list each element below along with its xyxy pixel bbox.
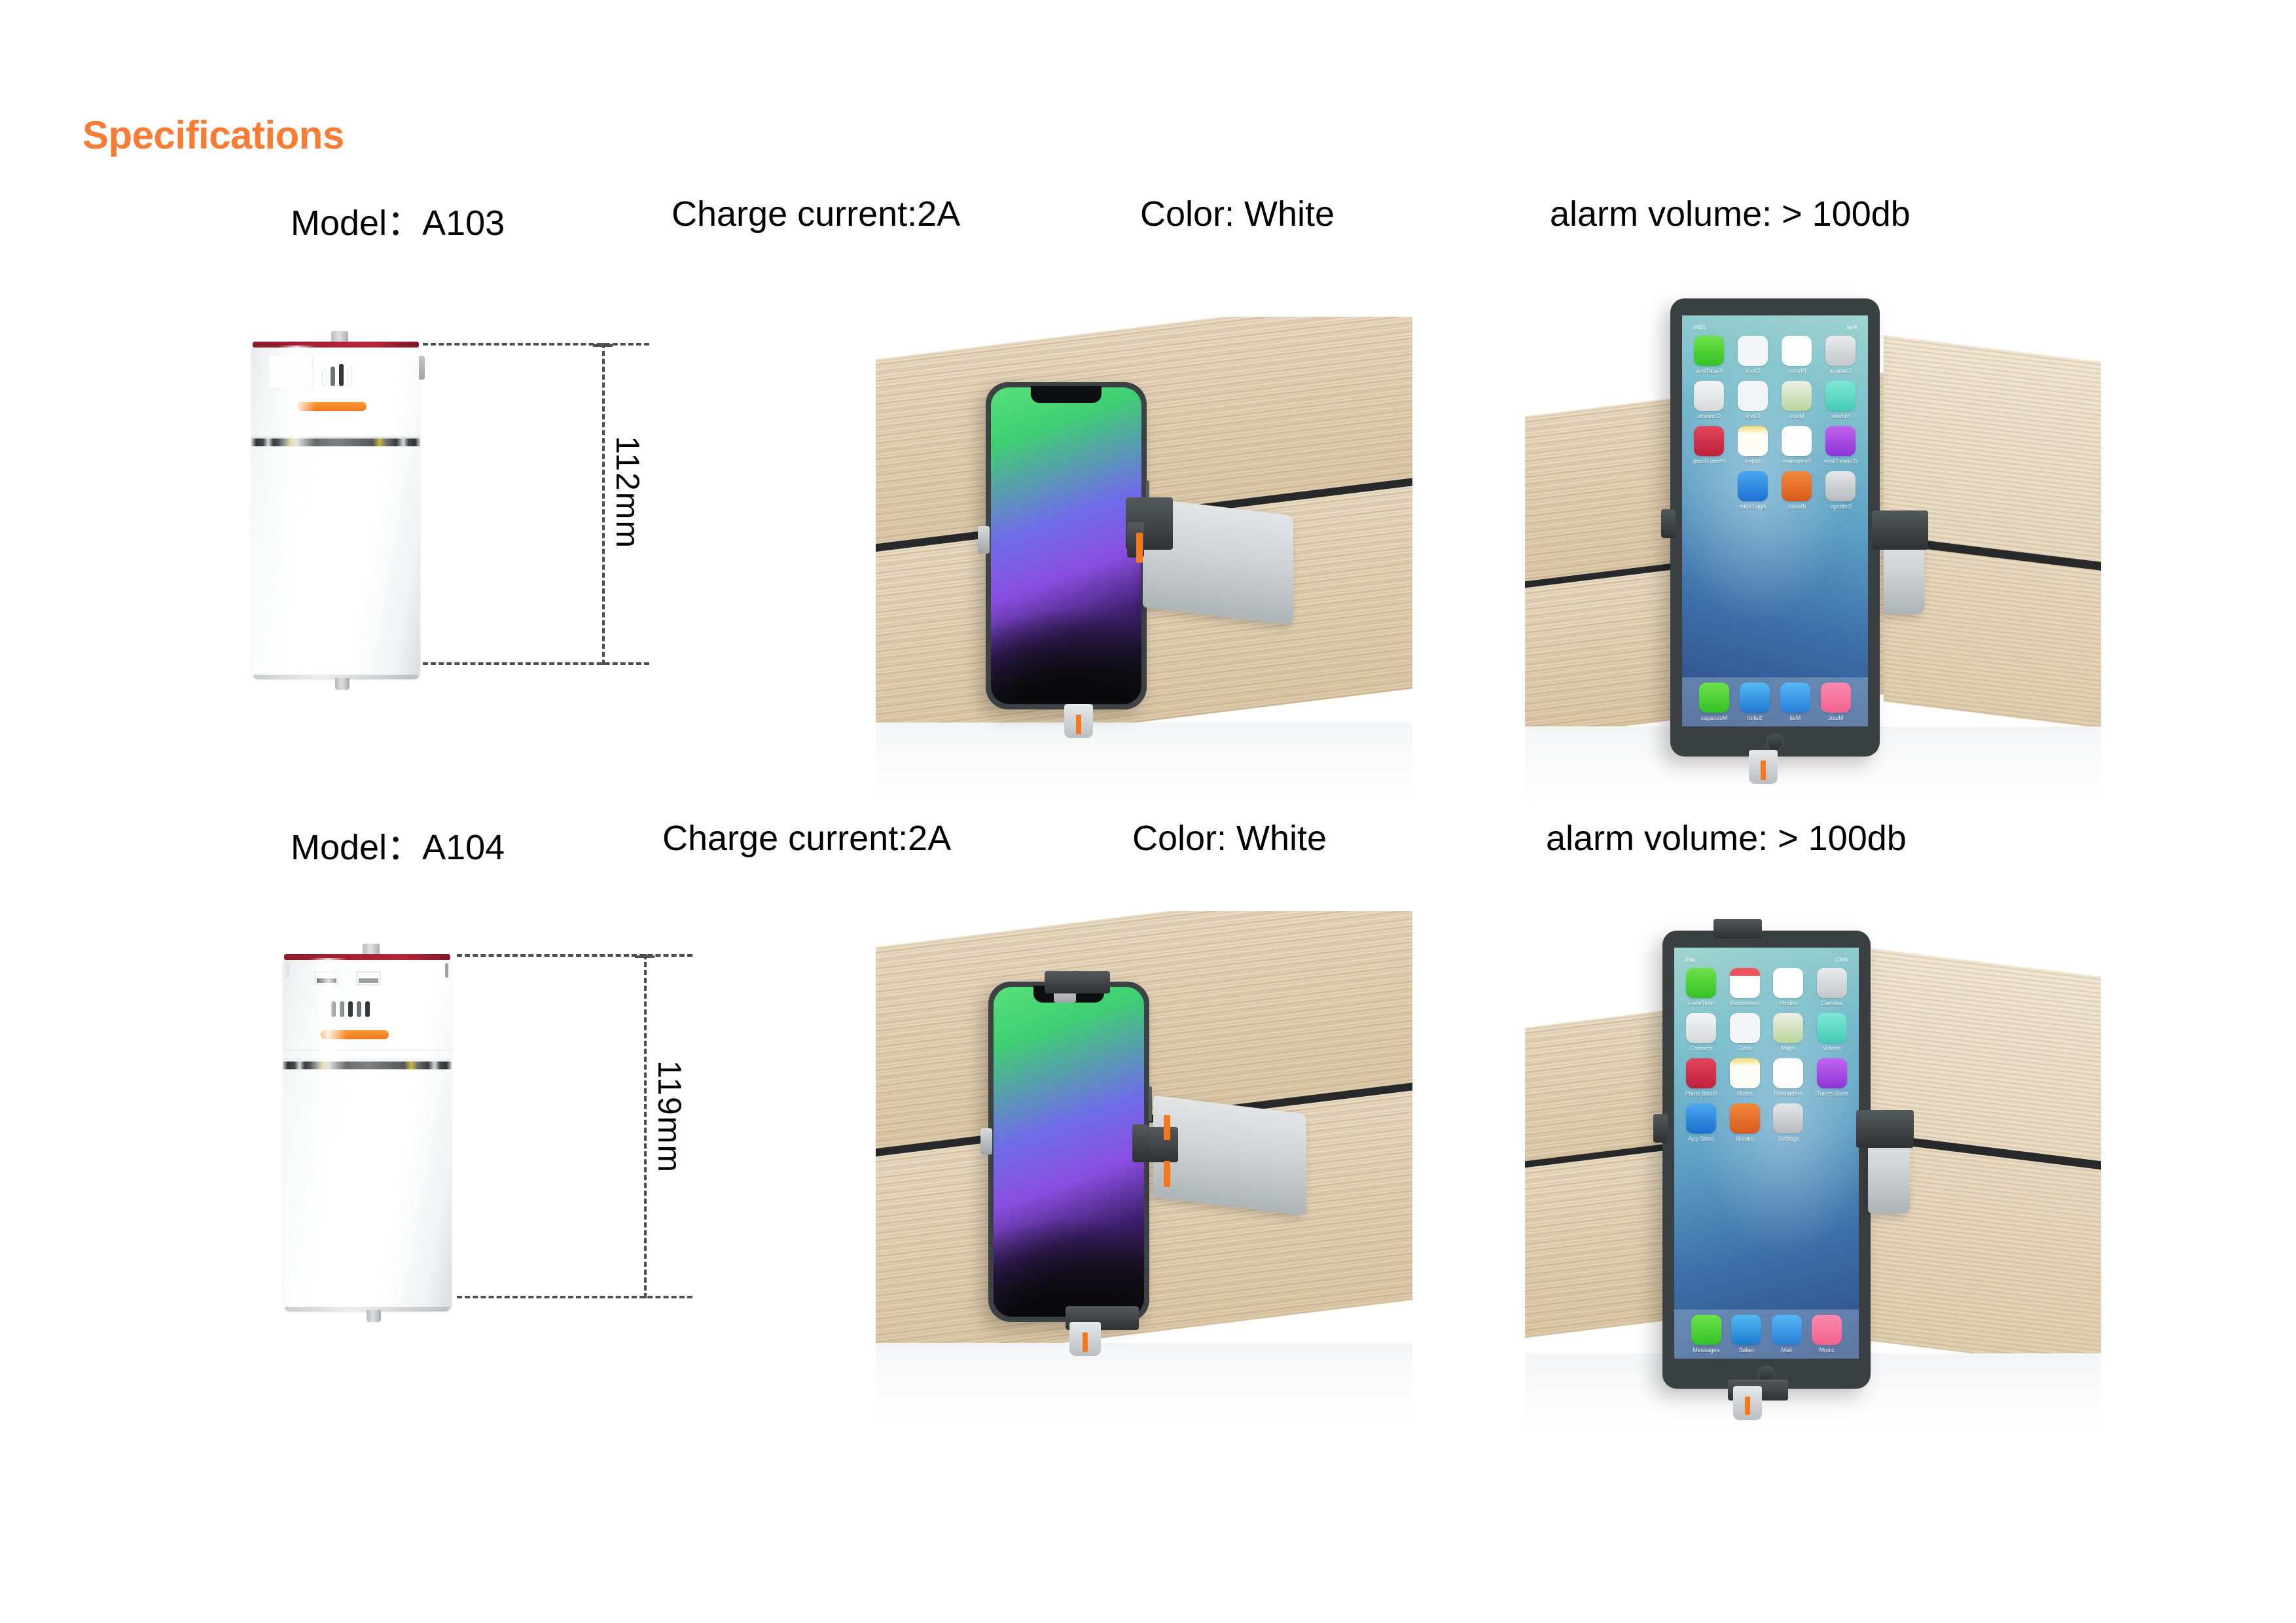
photo-booth-icon xyxy=(1686,1058,1716,1088)
tablet-dock: Messages Safari Mail Music xyxy=(1674,1310,1859,1359)
spec-model-a104: Model：A104 xyxy=(291,818,505,870)
app-icon-settings[interactable]: Settings xyxy=(1769,1103,1808,1142)
device-head-module xyxy=(283,958,452,1050)
dimension-vertical-line xyxy=(602,343,605,665)
app-icon-clock-2[interactable]: Clock xyxy=(1734,381,1772,419)
app-icon-maps[interactable]: Maps xyxy=(1778,381,1816,419)
tablet-home-button[interactable] xyxy=(1767,734,1784,751)
phone-side-clamp-left xyxy=(978,526,990,554)
phone-device-a104 xyxy=(988,982,1149,1322)
app-icon-photobooth[interactable]: Photo Booth xyxy=(1690,426,1729,465)
app-icon-photos[interactable]: Photos xyxy=(1778,336,1816,374)
bracket-release-tab xyxy=(1136,533,1143,563)
dock-icon-messages[interactable]: Messages xyxy=(1699,683,1729,721)
camera-icon xyxy=(1817,968,1847,998)
dimension-cap-tick xyxy=(593,344,613,347)
reminders-icon xyxy=(1782,426,1812,456)
dock-icon-safari[interactable]: Safari xyxy=(1731,1315,1761,1353)
photo-booth-icon xyxy=(1695,426,1725,456)
spec-alarm-volume-a104: alarm volume: > 100db xyxy=(1546,818,1907,859)
app-icon-clock[interactable]: Clock xyxy=(1726,1013,1765,1052)
tablet-side-clamp-left xyxy=(1653,1114,1668,1143)
app-icon-appstore[interactable]: App Store xyxy=(1734,471,1772,510)
dock-icon-music[interactable]: Music xyxy=(1812,1315,1842,1353)
page-title: Specifications xyxy=(82,113,344,158)
app-icon-photos[interactable]: Photos xyxy=(1769,968,1808,1007)
clock-icon xyxy=(1738,336,1768,366)
product-photo-phone-a103 xyxy=(876,317,1412,801)
product-photo-tablet-a104: iPad 100% FaceTime Reminders Photos Came… xyxy=(1525,902,2101,1432)
app-icon-ibooks[interactable]: iBooks xyxy=(1778,471,1816,510)
app-icon-calendar[interactable]: Reminders xyxy=(1726,968,1765,1007)
app-icon-maps[interactable]: Maps xyxy=(1769,1013,1808,1052)
app-icon-facetime[interactable]: FaceTime xyxy=(1682,968,1721,1007)
app-icon-itunes[interactable]: iTunes Store xyxy=(1813,1058,1852,1097)
maps-icon xyxy=(1782,381,1812,411)
phone-top-clamp xyxy=(1045,971,1110,993)
settings-icon xyxy=(1826,471,1856,501)
dimension-label-a104: 119mm xyxy=(651,1060,689,1173)
device-orange-indicator xyxy=(297,402,367,411)
app-icon-ibooks[interactable]: iBooks xyxy=(1726,1103,1765,1142)
settings-icon xyxy=(1773,1103,1803,1133)
safari-icon xyxy=(1731,1315,1761,1345)
app-icon-photobooth[interactable]: Photo Booth xyxy=(1682,1058,1721,1097)
bracket-release-tab xyxy=(1164,1115,1170,1140)
dimension-top-line xyxy=(423,343,649,346)
device-usb-port-1 xyxy=(314,971,339,986)
product-photo-phone-a104 xyxy=(876,911,1412,1421)
spec-model-a103: Model：A103 xyxy=(291,194,505,245)
reminders-icon xyxy=(1773,1058,1803,1088)
notes-icon xyxy=(1738,426,1768,456)
device-corner-tick-right xyxy=(445,963,448,978)
tablet-device-a103: iPad 100% Camera Photos Clock FaceTime V… xyxy=(1670,298,1880,757)
app-icon-reminders[interactable]: Reminders xyxy=(1769,1058,1808,1097)
contacts-icon xyxy=(1686,1013,1716,1043)
status-battery: 100% xyxy=(1835,957,1848,963)
vent-slot xyxy=(348,366,352,386)
messages-icon xyxy=(1699,683,1729,713)
tablet-dock: Music Mail Safari Messages xyxy=(1682,677,1868,726)
photo-floor xyxy=(876,722,1412,801)
messages-icon xyxy=(1691,1315,1721,1345)
tablet-top-clamp xyxy=(1713,919,1762,938)
dock-icon-safari[interactable]: Safari xyxy=(1740,683,1770,721)
app-icon-contacts[interactable]: Contacts xyxy=(1682,1013,1721,1052)
tablet-bracket-pivot xyxy=(1872,510,1928,550)
device-drawing-a103: 112mm xyxy=(236,335,668,708)
app-store-icon xyxy=(1738,471,1768,501)
device-contact-band xyxy=(251,438,420,446)
spec-charge-current-a103: Charge current:2A xyxy=(672,194,960,234)
app-icon-clock[interactable]: Clock xyxy=(1734,336,1772,374)
facetime-icon xyxy=(1686,968,1716,998)
tablet-screen: iPad 100% FaceTime Reminders Photos Came… xyxy=(1674,948,1859,1359)
music-icon xyxy=(1821,683,1851,713)
vent-slot xyxy=(365,1001,370,1017)
vent-slot xyxy=(331,1001,336,1017)
phone-power-button xyxy=(1149,1086,1152,1122)
app-icon-notes[interactable]: Notes xyxy=(1734,426,1772,465)
dock-icon-mail[interactable]: Mail xyxy=(1772,1315,1802,1353)
itunes-icon xyxy=(1817,1058,1847,1088)
device-drawing-a104: 119mm xyxy=(267,948,699,1340)
dimension-bottom-line xyxy=(423,662,649,665)
dock-icon-mail[interactable]: Mail xyxy=(1780,683,1810,721)
spec-color-a104: Color: White xyxy=(1132,818,1327,859)
vent-slot xyxy=(331,366,335,386)
dimension-cap-tick xyxy=(635,955,655,958)
device-head-module xyxy=(251,346,420,438)
mail-icon xyxy=(1772,1315,1802,1345)
device-contact-band xyxy=(283,1061,452,1069)
maps-icon xyxy=(1773,1013,1803,1043)
dimension-bottom-line xyxy=(457,1296,692,1298)
sensor-plug-stripe xyxy=(1083,1332,1088,1352)
phone-notch-icon xyxy=(1031,386,1102,403)
calendar-icon xyxy=(1730,968,1760,998)
tablet-status-bar: iPad 100% xyxy=(1690,325,1860,330)
phone-device-a103 xyxy=(986,382,1147,709)
spec-row-2: Model：A104 Charge current:2A Color: Whit… xyxy=(0,818,2296,864)
phone-screen xyxy=(991,387,1141,704)
dimension-vertical-line xyxy=(644,954,647,1298)
tablet-home-grid: Camera Photos Clock FaceTime Videos Maps… xyxy=(1690,330,1860,673)
clock-icon xyxy=(1730,1013,1760,1043)
device-usb-port-2 xyxy=(356,971,381,986)
app-icon-camera[interactable]: Camera xyxy=(1821,336,1860,374)
status-carrier: iPad xyxy=(1847,325,1857,330)
device-vent-slots xyxy=(331,1001,370,1017)
phone-screen xyxy=(994,987,1144,1317)
status-battery: 100% xyxy=(1693,325,1706,330)
music-icon xyxy=(1812,1315,1842,1345)
dimension-label-a103: 112mm xyxy=(609,436,647,549)
spec-charge-current-a104: Charge current:2A xyxy=(662,818,951,859)
vent-slot xyxy=(322,369,327,386)
spec-row-1: Model：A103 Charge current:2A Color: Whit… xyxy=(0,194,2296,240)
ibooks-icon xyxy=(1730,1103,1760,1133)
app-icon-videos[interactable]: Videos xyxy=(1813,1013,1852,1052)
device-label-panel xyxy=(268,355,313,389)
spec-alarm-volume-a103: alarm volume: > 100db xyxy=(1550,194,1910,234)
sensor-plug-stripe xyxy=(1745,1397,1750,1415)
phone-side-clamp-right xyxy=(1132,1124,1149,1161)
app-icon-settings[interactable]: Settings xyxy=(1821,471,1860,510)
sensor-plug-stripe xyxy=(1761,760,1766,780)
product-photo-tablet-a103: iPad 100% Camera Photos Clock FaceTime V… xyxy=(1525,281,2101,805)
device-seam-line xyxy=(283,1059,452,1060)
facetime-icon xyxy=(1695,336,1725,366)
device-corner-tick-left xyxy=(286,963,289,978)
camera-icon xyxy=(1826,336,1856,366)
photos-icon xyxy=(1782,336,1812,366)
videos-icon xyxy=(1817,1013,1847,1043)
tablet-status-bar: iPad 100% xyxy=(1682,957,1851,963)
dock-icon-messages[interactable]: Messages xyxy=(1691,1315,1721,1353)
bracket-release-tab-lower xyxy=(1164,1161,1170,1187)
spec-color-a103: Color: White xyxy=(1140,194,1335,234)
tablet-screen: iPad 100% Camera Photos Clock FaceTime V… xyxy=(1682,315,1868,726)
app-store-icon xyxy=(1686,1103,1716,1133)
app-icon-facetime[interactable]: FaceTime xyxy=(1690,336,1729,374)
device-orange-indicator xyxy=(321,1030,389,1039)
device-bottom-nub-icon xyxy=(335,678,350,690)
app-icon-itunes[interactable]: iTunes Store xyxy=(1821,426,1860,465)
phone-side-clamp-left xyxy=(980,1128,992,1154)
notes-icon xyxy=(1730,1058,1760,1088)
tablet-device-a104: iPad 100% FaceTime Reminders Photos Came… xyxy=(1662,931,1871,1389)
device-bottom-nub-icon xyxy=(367,1310,381,1322)
app-icon-contacts[interactable]: Contacts xyxy=(1690,381,1729,419)
app-icon-videos[interactable]: Videos xyxy=(1821,381,1860,419)
app-icon-camera[interactable]: Camera xyxy=(1813,968,1852,1007)
tablet-side-clamp-left xyxy=(1661,509,1676,538)
device-seam-line xyxy=(251,436,420,437)
device-body-a104 xyxy=(283,958,452,1311)
photo-floor xyxy=(876,1343,1412,1421)
dock-icon-music[interactable]: Music xyxy=(1821,683,1851,721)
ibooks-icon xyxy=(1782,471,1812,501)
tablet-bracket-pivot xyxy=(1856,1110,1914,1148)
itunes-icon xyxy=(1826,426,1856,456)
dimension-top-line xyxy=(457,954,692,957)
sensor-plug-stripe xyxy=(1076,715,1081,734)
vent-slot xyxy=(340,1001,344,1017)
vent-slot xyxy=(357,1001,361,1017)
app-icon-appstore[interactable]: App Store xyxy=(1682,1103,1721,1142)
mail-icon xyxy=(1780,683,1810,713)
app-icon-reminders[interactable]: Reminders xyxy=(1778,426,1816,465)
photos-icon xyxy=(1773,968,1803,998)
device-vent-slots xyxy=(322,364,352,386)
contacts-icon xyxy=(1695,381,1725,411)
device-body-a103 xyxy=(251,346,420,679)
app-icon-notes[interactable]: Notes xyxy=(1726,1058,1765,1097)
safari-icon xyxy=(1740,683,1770,713)
videos-icon xyxy=(1826,381,1856,411)
clock-icon xyxy=(1738,381,1768,411)
vent-slot xyxy=(339,364,344,386)
vent-slot xyxy=(348,1001,353,1017)
tablet-home-grid: FaceTime Reminders Photos Camera Contact… xyxy=(1682,963,1851,1306)
status-carrier: iPad xyxy=(1685,957,1695,963)
